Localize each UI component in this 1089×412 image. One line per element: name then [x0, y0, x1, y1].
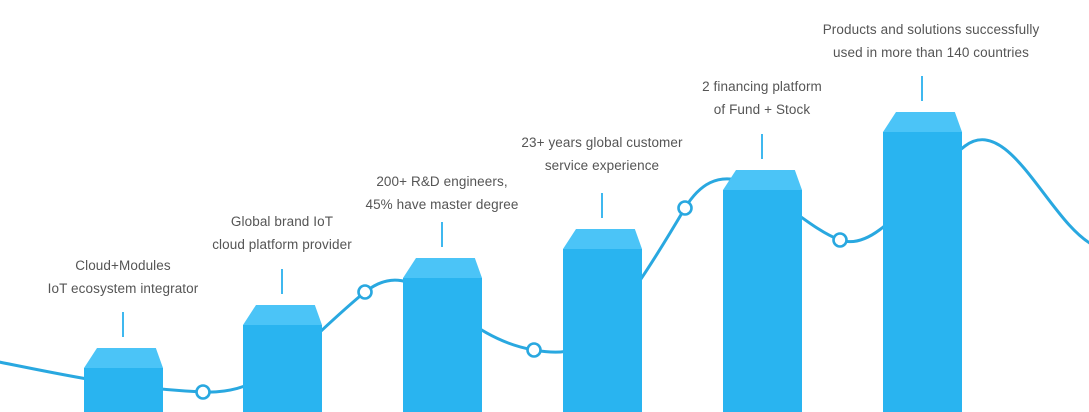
milestone-label-line: of Fund + Stock — [462, 98, 1062, 121]
milestone-label-2: Global brand IoTcloud platform provider — [0, 210, 582, 256]
bar-service-experience[interactable] — [563, 229, 642, 412]
milestone-label-line: 45% have master degree — [142, 193, 742, 216]
milestone-label-1: Cloud+ModulesIoT ecosystem integrator — [0, 254, 423, 300]
bar-front-face — [723, 190, 802, 412]
curve-marker-5[interactable] — [834, 234, 847, 247]
bar-front-face — [563, 249, 642, 412]
milestone-label-line: used in more than 140 countries — [631, 41, 1089, 64]
milestone-label-4: 23+ years global customerservice experie… — [302, 131, 902, 177]
milestone-label-line: Products and solutions successfully — [631, 18, 1089, 41]
bar-top-face — [84, 348, 163, 368]
milestone-label-line: service experience — [302, 154, 902, 177]
milestone-label-6: Products and solutions successfullyused … — [631, 18, 1089, 64]
milestone-label-line: 2 financing platform — [462, 75, 1062, 98]
milestone-label-line: cloud platform provider — [0, 233, 582, 256]
bar-front-face — [84, 368, 163, 412]
infographic-canvas: Cloud+ModulesIoT ecosystem integratorGlo… — [0, 0, 1089, 412]
curve-marker-1[interactable] — [197, 386, 210, 399]
bar-cloud-modules[interactable] — [84, 348, 163, 412]
bar-cloud-platform[interactable] — [243, 305, 322, 412]
bar-front-face — [243, 325, 322, 412]
milestone-label-line: Cloud+Modules — [0, 254, 423, 277]
curve-marker-3[interactable] — [528, 344, 541, 357]
bar-top-face — [243, 305, 322, 325]
milestone-label-5: 2 financing platformof Fund + Stock — [462, 75, 1062, 121]
milestone-label-line: 23+ years global customer — [302, 131, 902, 154]
milestone-label-line: IoT ecosystem integrator — [0, 277, 423, 300]
